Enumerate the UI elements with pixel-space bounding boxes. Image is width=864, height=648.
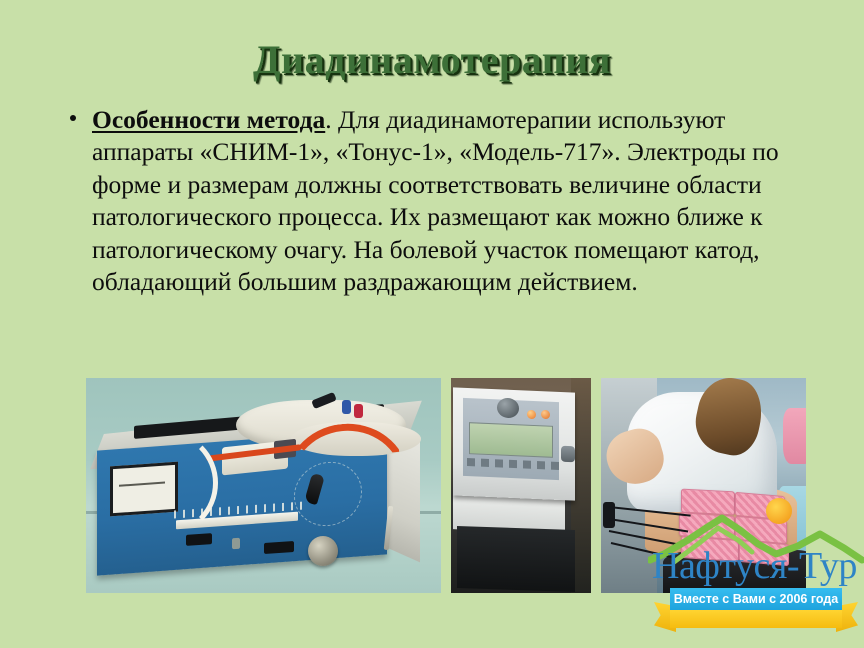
photo2-dark-slab bbox=[457, 526, 575, 592]
modern-device-lcd-photo bbox=[451, 378, 591, 593]
brand-watermark: Нафтуся-Тур Вместе с Вами с 2006 года bbox=[648, 492, 864, 644]
photo2-indicator-led-2 bbox=[541, 410, 550, 419]
photo2-lcd-display bbox=[469, 422, 553, 458]
lead-phrase: Особенности метода bbox=[92, 105, 325, 134]
photo1-switch-c bbox=[232, 538, 240, 550]
list-item: Особенности метода. Для диадинамотерапии… bbox=[62, 104, 814, 298]
photo1-plug-red bbox=[354, 404, 363, 418]
photo1-control-knob bbox=[308, 536, 338, 566]
photo1-plug-blue bbox=[342, 400, 351, 414]
photo2-side-knob bbox=[561, 446, 575, 463]
photo1-switch-b bbox=[264, 541, 294, 554]
body-text-block: Особенности метода. Для диадинамотерапии… bbox=[62, 104, 814, 298]
photo3-pink-cloth bbox=[783, 408, 806, 464]
brand-tagline: Вместе с Вами с 2006 года bbox=[670, 590, 842, 608]
brand-name: Нафтуся-Тур bbox=[652, 544, 864, 588]
brand-ribbon: Вместе с Вами с 2006 года bbox=[654, 588, 858, 634]
blue-electrotherapy-apparatus-photo bbox=[86, 378, 441, 593]
photo1-switch-a bbox=[186, 533, 212, 546]
bullet-dot-icon bbox=[70, 115, 76, 121]
slide-canvas: Диадинамотерапия Особенности метода. Для… bbox=[0, 0, 864, 648]
page-title: Диадинамотерапия bbox=[0, 36, 864, 83]
photo2-indicator-led-1 bbox=[527, 410, 536, 419]
ribbon-gold-band bbox=[670, 610, 842, 628]
photo2-rotary-dial bbox=[497, 398, 519, 419]
